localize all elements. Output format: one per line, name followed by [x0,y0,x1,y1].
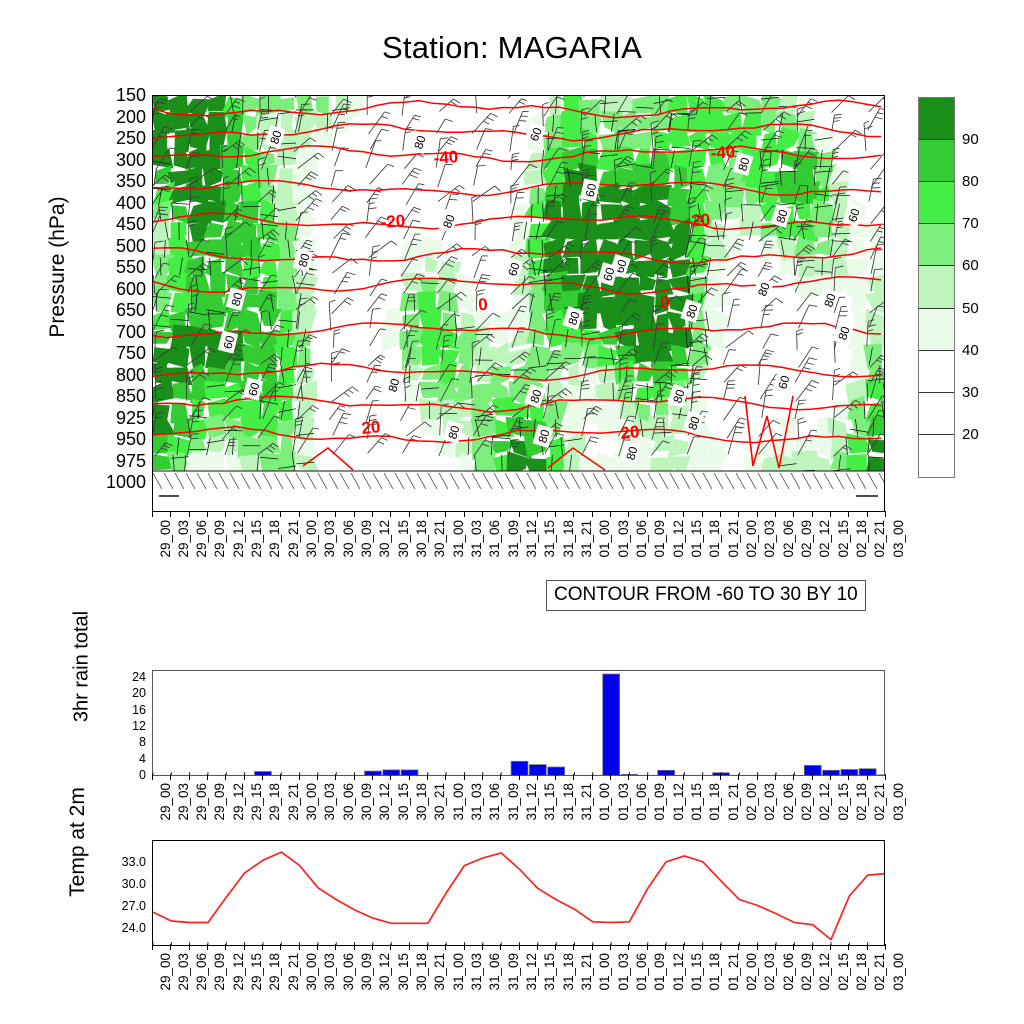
time-tick [775,511,776,517]
time-tick [573,774,574,780]
time-tick [610,774,611,780]
time-tick [225,774,226,780]
time-tick [445,944,446,950]
pressure-tick-300: 300 [100,151,146,169]
time-tick [610,944,611,950]
time-tick-label-31_00: 31_00 [451,783,466,821]
time-tick [354,511,355,517]
time-tick-label-29_12: 29_12 [231,783,246,821]
time-tick-label-31_06: 31_06 [487,953,502,991]
pressure-axis-ticks: 1502002503003504004505005506006507007508… [96,95,146,512]
time-tick [390,511,391,517]
main-time-axis: 29_0029_0329_0629_0929_1229_1529_1829_21… [152,517,885,587]
time-tick-label-31_03: 31_03 [469,783,484,821]
time-tick [409,774,410,780]
time-tick [427,511,428,517]
time-tick-label-31_00: 31_00 [451,953,466,991]
time-tick-label-29_06: 29_06 [194,783,209,821]
time-tick-label-30_06: 30_06 [341,783,356,821]
time-tick [244,944,245,950]
time-tick-label-29_06: 29_06 [194,953,209,991]
time-tick [885,774,886,780]
time-tick [445,774,446,780]
time-tick-label-01_21: 01_21 [726,783,741,821]
colorbar-tick-labels: 9080706050403020 [918,97,1008,478]
time-tick [280,944,281,950]
time-tick-label-02_00: 02_00 [744,953,759,991]
time-tick-label-31_12: 31_12 [524,953,539,991]
time-tick-label-01_06: 01_06 [634,783,649,821]
time-tick [152,774,153,780]
time-tick [683,944,684,950]
time-tick-label-29_12: 29_12 [231,953,246,991]
time-tick-label-01_00: 01_00 [597,520,612,558]
svg-text:-20: -20 [685,210,711,231]
time-tick [885,944,886,950]
time-tick [683,511,684,517]
time-tick [592,944,593,950]
time-tick-label-29_21: 29_21 [286,783,301,821]
colorbar-tick-80: 80 [962,174,979,189]
time-tick [555,944,556,950]
time-tick [335,511,336,517]
time-tick [189,774,190,780]
time-tick-label-02_18: 02_18 [854,783,869,821]
time-tick-label-29_09: 29_09 [212,953,227,991]
temp-axis-label: Temp at 2m [66,742,90,942]
time-tick-label-29_00: 29_00 [158,953,173,991]
time-tick [244,511,245,517]
time-tick-label-31_09: 31_09 [506,953,521,991]
time-tick [757,511,758,517]
time-tick [409,511,410,517]
time-tick [409,944,410,950]
time-tick [628,944,629,950]
time-tick [170,774,171,780]
time-tick-label-30_06: 30_06 [341,953,356,991]
time-tick-label-30_12: 30_12 [377,520,392,558]
time-tick-label-30_00: 30_00 [304,783,319,821]
time-tick-label-31_09: 31_09 [506,520,521,558]
pressure-tick-925: 925 [100,409,146,427]
time-tick-label-29_03: 29_03 [176,953,191,991]
time-tick [757,944,758,950]
time-tick [793,511,794,517]
time-tick [555,774,556,780]
time-tick [317,511,318,517]
time-tick [482,774,483,780]
temp-tick-27.0: 27.0 [98,900,146,912]
time-tick [610,511,611,517]
time-tick [647,774,648,780]
time-tick-label-30_18: 30_18 [414,783,429,821]
time-tick-label-29_00: 29_00 [158,520,173,558]
time-tick [207,944,208,950]
rain-tick-24: 24 [102,671,146,683]
time-tick-label-03_00: 03_00 [891,783,906,821]
time-tick [830,944,831,950]
time-tick-label-02_21: 02_21 [872,953,887,991]
time-tick-label-30_15: 30_15 [396,783,411,821]
time-tick [445,511,446,517]
time-tick-label-30_06: 30_06 [341,520,356,558]
svg-text:20: 20 [620,422,641,443]
time-tick [885,511,886,517]
time-tick [354,774,355,780]
rain-tick-0: 0 [102,769,146,781]
time-tick [793,774,794,780]
time-tick [573,511,574,517]
time-tick-label-30_00: 30_00 [304,520,319,558]
time-tick-label-02_03: 02_03 [762,783,777,821]
time-tick [537,774,538,780]
time-tick [262,944,263,950]
time-tick [482,511,483,517]
time-tick-label-30_03: 30_03 [322,953,337,991]
colorbar-tick-20: 20 [962,427,979,442]
rain-tick-20: 20 [102,687,146,699]
time-tick-label-30_09: 30_09 [359,520,374,558]
svg-text:0: 0 [660,293,671,313]
time-tick-label-01_18: 01_18 [707,953,722,991]
time-tick-label-29_09: 29_09 [212,520,227,558]
time-tick-label-02_15: 02_15 [836,520,851,558]
weather-station-figure: Station: MAGARIA Pressure (hPa) 15020025… [0,0,1024,1024]
time-tick [152,944,153,950]
time-tick [592,511,593,517]
time-tick-label-29_18: 29_18 [267,783,282,821]
time-tick-label-02_03: 02_03 [762,520,777,558]
time-tick [372,944,373,950]
time-tick [665,774,666,780]
time-tick [390,774,391,780]
time-tick [867,511,868,517]
time-tick-label-31_03: 31_03 [469,953,484,991]
contour-legend-box: CONTOUR FROM -60 TO 30 BY 10 [546,580,866,611]
time-tick [537,944,538,950]
colorbar-tick-90: 90 [962,132,979,147]
time-tick [702,944,703,950]
pressure-tick-975: 975 [100,452,146,470]
time-tick [775,944,776,950]
time-tick-label-30_03: 30_03 [322,520,337,558]
time-tick-label-03_00: 03_00 [891,520,906,558]
time-tick [592,774,593,780]
time-tick [683,774,684,780]
time-tick-label-01_09: 01_09 [652,783,667,821]
time-tick-label-01_06: 01_06 [634,953,649,991]
pressure-tick-850: 850 [100,387,146,405]
time-tick-label-30_21: 30_21 [432,783,447,821]
time-tick [500,511,501,517]
time-tick-label-02_09: 02_09 [799,520,814,558]
time-tick [299,774,300,780]
time-tick [500,944,501,950]
time-tick-label-31_18: 31_18 [561,520,576,558]
time-tick [189,944,190,950]
time-tick-label-31_03: 31_03 [469,520,484,558]
time-tick [354,944,355,950]
temp-tick-30.0: 30.0 [98,878,146,890]
pressure-tick-350: 350 [100,172,146,190]
time-tick-label-02_15: 02_15 [836,783,851,821]
time-tick [189,511,190,517]
temp-panel [152,840,885,946]
rain-axis-ticks: 04812162024 [100,666,146,780]
colorbar-tick-70: 70 [962,216,979,231]
time-tick [720,944,721,950]
time-tick-label-01_18: 01_18 [707,783,722,821]
time-tick-label-02_18: 02_18 [854,520,869,558]
temp-time-axis: 29_0029_0329_0629_0929_1229_1529_1829_21… [152,950,885,1020]
time-tick-label-02_12: 02_12 [817,783,832,821]
time-tick-label-31_18: 31_18 [561,953,576,991]
colorbar-tick-30: 30 [962,385,979,400]
time-tick [280,511,281,517]
time-tick-label-29_09: 29_09 [212,783,227,821]
colorbar-tick-50: 50 [962,301,979,316]
time-tick-label-29_00: 29_00 [158,783,173,821]
page-title: Station: MAGARIA [0,30,1024,66]
time-tick [280,774,281,780]
time-tick-label-03_00: 03_00 [891,953,906,991]
time-tick [299,511,300,517]
time-tick-label-02_06: 02_06 [781,953,796,991]
time-tick-label-02_06: 02_06 [781,783,796,821]
time-tick [738,511,739,517]
time-tick-label-01_18: 01_18 [707,520,722,558]
time-tick-label-31_21: 31_21 [579,520,594,558]
svg-text:20: 20 [361,417,382,438]
time-tick [464,944,465,950]
time-tick [464,774,465,780]
time-tick-label-31_06: 31_06 [487,783,502,821]
pressure-tick-800: 800 [100,366,146,384]
time-tick [647,944,648,950]
time-tick-label-29_15: 29_15 [249,953,264,991]
rain-bar-chart [153,671,885,776]
pressure-tick-600: 600 [100,280,146,298]
time-tick [830,774,831,780]
time-tick [299,944,300,950]
pressure-tick-450: 450 [100,215,146,233]
time-tick-label-29_06: 29_06 [194,520,209,558]
pressure-axis-label: Pressure (hPa) [46,117,70,417]
time-tick-label-31_15: 31_15 [542,520,557,558]
time-tick-label-29_21: 29_21 [286,953,301,991]
time-tick [170,944,171,950]
time-tick-label-01_09: 01_09 [652,953,667,991]
svg-text:-40: -40 [433,147,459,168]
time-tick [555,511,556,517]
time-tick [390,944,391,950]
rain-axis-label: 3hr rain total [71,577,94,757]
pressure-tick-400: 400 [100,194,146,212]
time-tick-label-29_12: 29_12 [231,520,246,558]
time-tick-label-01_15: 01_15 [689,783,704,821]
time-tick-label-29_15: 29_15 [249,783,264,821]
time-tick-label-30_21: 30_21 [432,520,447,558]
time-tick [793,944,794,950]
time-tick-label-29_21: 29_21 [286,520,301,558]
pressure-tick-200: 200 [100,108,146,126]
time-tick [244,774,245,780]
time-tick [519,774,520,780]
time-tick [317,944,318,950]
time-tick-label-31_06: 31_06 [487,520,502,558]
time-tick [775,774,776,780]
rain-tick-4: 4 [102,753,146,765]
temp-tick-33.0: 33.0 [98,856,146,868]
time-tick-label-02_12: 02_12 [817,953,832,991]
time-tick-label-02_21: 02_21 [872,520,887,558]
rain-tick-16: 16 [102,704,146,716]
time-tick [372,774,373,780]
time-tick-label-29_03: 29_03 [176,783,191,821]
time-tick-label-01_21: 01_21 [726,520,741,558]
time-tick [720,774,721,780]
time-tick [738,774,739,780]
time-tick-label-30_12: 30_12 [377,953,392,991]
time-tick [225,511,226,517]
colorbar-tick-40: 40 [962,343,979,358]
time-tick [207,774,208,780]
time-tick-label-30_15: 30_15 [396,520,411,558]
time-tick-label-01_15: 01_15 [689,953,704,991]
time-tick [647,511,648,517]
pressure-tick-650: 650 [100,301,146,319]
time-tick-label-01_09: 01_09 [652,520,667,558]
time-tick [262,511,263,517]
time-tick-label-30_12: 30_12 [377,783,392,821]
time-tick [702,774,703,780]
time-tick-label-02_21: 02_21 [872,783,887,821]
pressure-tick-950: 950 [100,430,146,448]
time-tick-label-31_09: 31_09 [506,783,521,821]
time-tick-label-31_15: 31_15 [542,953,557,991]
time-tick-label-01_03: 01_03 [616,783,631,821]
time-tick-label-31_21: 31_21 [579,783,594,821]
pressure-tick-1000: 1000 [100,473,146,491]
time-tick [628,774,629,780]
time-tick-label-30_03: 30_03 [322,783,337,821]
time-tick [170,511,171,517]
time-tick-label-30_15: 30_15 [396,953,411,991]
rain-tick-8: 8 [102,736,146,748]
time-tick [812,774,813,780]
time-tick-label-02_00: 02_00 [744,520,759,558]
time-tick [812,511,813,517]
time-tick [519,944,520,950]
time-tick [848,511,849,517]
time-tick-label-01_03: 01_03 [616,953,631,991]
pressure-tick-500: 500 [100,237,146,255]
time-tick [225,944,226,950]
temp-tick-24.0: 24.0 [98,922,146,934]
time-tick [427,944,428,950]
time-tick [372,511,373,517]
pressure-tick-700: 700 [100,323,146,341]
time-tick [519,511,520,517]
pressure-tick-250: 250 [100,129,146,147]
pressure-tick-750: 750 [100,344,146,362]
time-tick-label-01_06: 01_06 [634,520,649,558]
time-tick-label-31_15: 31_15 [542,783,557,821]
time-tick-label-31_21: 31_21 [579,953,594,991]
time-tick-label-02_00: 02_00 [744,783,759,821]
time-tick-label-01_12: 01_12 [671,953,686,991]
time-tick-label-30_09: 30_09 [359,953,374,991]
rain-panel [152,670,885,776]
time-tick [537,511,538,517]
time-tick-label-30_18: 30_18 [414,520,429,558]
time-tick [207,511,208,517]
time-tick [317,774,318,780]
colorbar-tick-60: 60 [962,258,979,273]
time-tick-label-31_12: 31_12 [524,520,539,558]
time-tick [720,511,721,517]
time-tick [335,944,336,950]
time-tick [867,944,868,950]
time-tick-label-02_03: 02_03 [762,953,777,991]
time-tick-label-29_18: 29_18 [267,953,282,991]
time-tick [848,774,849,780]
time-tick [830,511,831,517]
rain-tick-12: 12 [102,720,146,732]
time-tick-label-01_12: 01_12 [671,520,686,558]
pressure-tick-550: 550 [100,258,146,276]
time-tick [573,944,574,950]
time-tick [262,774,263,780]
time-tick [702,511,703,517]
time-tick-label-02_18: 02_18 [854,953,869,991]
time-tick-label-30_21: 30_21 [432,953,447,991]
time-tick [335,774,336,780]
time-tick [500,774,501,780]
time-tick [848,944,849,950]
time-tick [757,774,758,780]
time-tick-label-01_03: 01_03 [616,520,631,558]
time-tick [665,944,666,950]
time-tick [812,944,813,950]
time-tick-label-31_00: 31_00 [451,520,466,558]
time-tick-label-31_18: 31_18 [561,783,576,821]
time-tick-label-29_15: 29_15 [249,520,264,558]
time-tick [665,511,666,517]
time-tick-label-29_03: 29_03 [176,520,191,558]
time-tick-label-02_06: 02_06 [781,520,796,558]
time-tick [427,774,428,780]
time-tick [628,511,629,517]
time-tick [482,944,483,950]
temp-axis-ticks: 24.027.030.033.0 [96,836,146,950]
time-tick [152,511,153,517]
time-tick [867,774,868,780]
pressure-tick-150: 150 [100,86,146,104]
time-tick-label-02_12: 02_12 [817,520,832,558]
time-tick-label-02_15: 02_15 [836,953,851,991]
time-tick-label-01_21: 01_21 [726,953,741,991]
svg-text:-20: -20 [380,211,406,232]
time-tick-label-02_09: 02_09 [799,783,814,821]
time-tick-label-30_09: 30_09 [359,783,374,821]
temperature-line-chart [153,841,885,946]
time-tick-label-29_18: 29_18 [267,520,282,558]
time-tick-label-02_09: 02_09 [799,953,814,991]
time-tick [464,511,465,517]
time-tick-label-01_00: 01_00 [597,783,612,821]
time-tick-label-01_12: 01_12 [671,783,686,821]
